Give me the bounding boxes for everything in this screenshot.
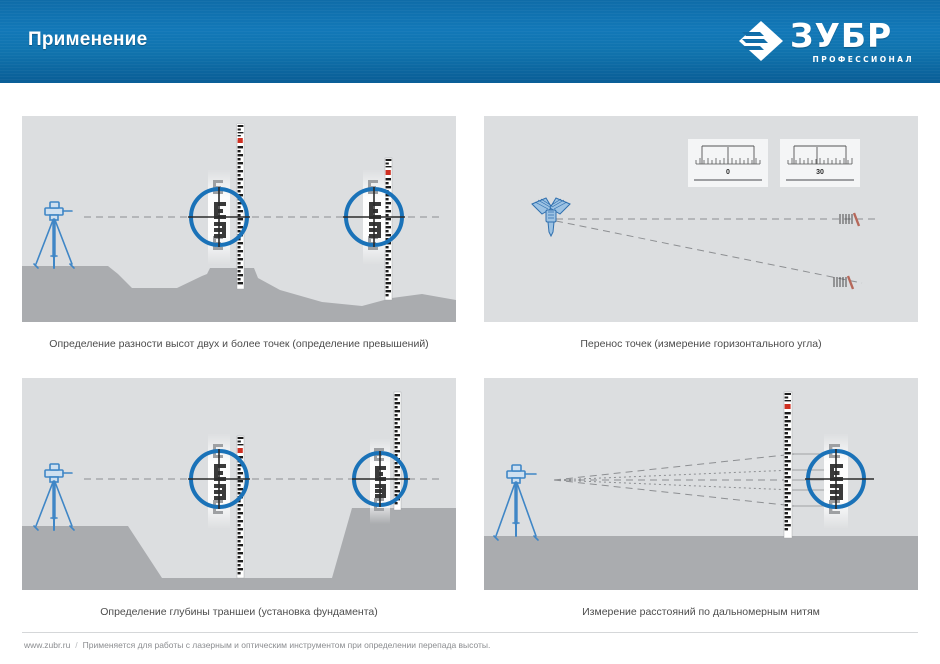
panel-1-illustration: [22, 116, 456, 322]
panel-stadia-distance: Измерение расстояний по дальномерным нит…: [484, 378, 918, 626]
leveling-staff-2: [385, 158, 392, 300]
angle-readout-0: 0: [688, 139, 768, 187]
panel-trench-depth: Определение глубины траншеи (установка ф…: [22, 378, 456, 626]
ground: [484, 536, 918, 590]
brand-subtitle: ПРОФЕССИОНАЛ: [813, 55, 914, 64]
panel-4-caption: Измерение расстояний по дальномерным нит…: [484, 606, 918, 618]
leveling-staff-1: [784, 392, 792, 538]
panel-2-caption: Перенос точек (измерение горизонтального…: [484, 338, 918, 350]
angle-readout-30-value: 30: [816, 169, 824, 176]
panel-4-illustration: [484, 378, 918, 590]
angle-readout-0-value: 0: [726, 169, 730, 176]
panel-2-illustration: 0: [484, 116, 918, 322]
brand-logo: ЗУБР ПРОФЕССИОНАЛ: [738, 16, 916, 68]
footer-divider: [22, 632, 918, 633]
panel-height-difference: Определение разности высот двух и более …: [22, 116, 456, 364]
panel-3-caption: Определение глубины траншеи (установка ф…: [22, 606, 456, 618]
header-divider: [0, 80, 940, 83]
page-title: Применение: [28, 29, 147, 51]
footer-note: Применяется для работы с лазерным и опти…: [83, 640, 491, 650]
panel-3-illustration: [22, 378, 456, 590]
footer-separator: /: [75, 640, 77, 650]
leveling-staff-2: [394, 392, 401, 510]
angle-readout-30: 30: [780, 139, 860, 187]
brand-name: ЗУБР: [790, 18, 892, 54]
footer: www.zubr.ru/Применяется для работы с лаз…: [24, 640, 490, 650]
footer-site-url[interactable]: www.zubr.ru: [24, 640, 70, 650]
panel-1-caption: Определение разности высот двух и более …: [22, 338, 456, 350]
zubr-diamond-icon: [738, 20, 784, 62]
panel-point-transfer: 0: [484, 116, 918, 364]
page-header: Применение ЗУБР ПРОФЕССИОНАЛ: [0, 0, 940, 80]
